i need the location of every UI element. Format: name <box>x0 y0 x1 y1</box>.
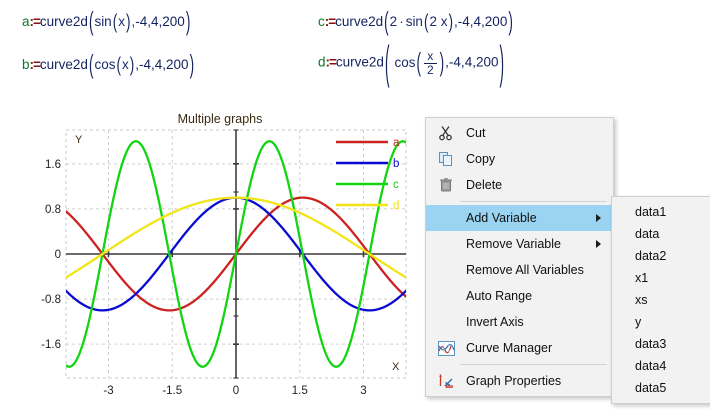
menu-item-label: Add Variable <box>460 211 537 225</box>
submenu-item-label: data2 <box>635 249 666 263</box>
paren-close-icon: ) <box>190 50 195 79</box>
submenu-item-label: data4 <box>635 359 666 373</box>
y-axis-label: Y <box>75 134 83 146</box>
expression-a-arg2: 4 <box>151 14 159 29</box>
context-menu[interactable]: CutCopyDeleteAdd VariableRemove Variable… <box>425 117 614 397</box>
fraction-denominator: 2 <box>424 63 437 77</box>
expression-c-arg1: -4 <box>458 14 470 29</box>
paren-close-icon: ) <box>500 37 505 88</box>
menu-item-label: Cut <box>460 126 485 140</box>
sin-label: sin <box>94 14 111 29</box>
menu-item-icon-placeholder <box>432 234 460 254</box>
submenu-item-data[interactable]: data <box>612 223 710 245</box>
menu-item-delete[interactable]: Delete <box>426 172 613 198</box>
expression-b-arg1: -4 <box>139 57 151 72</box>
menu-item-cut[interactable]: Cut <box>426 120 613 146</box>
submenu-item-label: y <box>635 315 641 329</box>
y-tick-label: -1.6 <box>41 339 61 351</box>
copy-icon <box>432 149 460 169</box>
submenu-arrow-icon <box>596 240 601 248</box>
menu-separator <box>460 201 607 202</box>
menu-item-remove-all-variables[interactable]: Remove All Variables <box>426 257 613 283</box>
fraction: x2 <box>424 50 437 76</box>
argument-label: 2 x <box>429 14 447 29</box>
submenu-item-label: xs <box>635 293 648 307</box>
menu-item-label: Copy <box>460 152 495 166</box>
menu-item-label: Remove Variable <box>460 237 561 251</box>
menu-item-graph-properties[interactable]: Graph Properties <box>426 368 613 394</box>
paren-open-icon: ( <box>89 7 94 36</box>
submenu-item-label: data3 <box>635 337 666 351</box>
expression-d[interactable]: d:=curve2d(cos(x2),-4,4,200) <box>318 50 505 76</box>
expression-c-function: curve2d <box>335 14 383 29</box>
legend-label-b: b <box>393 158 399 170</box>
expression-d-arg1: -4 <box>449 55 461 70</box>
paren-open-icon: ( <box>424 10 429 33</box>
trash-icon <box>432 175 460 195</box>
expression-a-argument: sin(x) <box>94 14 131 29</box>
x-tick-label: -3 <box>103 385 113 397</box>
menu-separator <box>460 364 607 365</box>
coefficient-label: 2 <box>390 14 398 29</box>
expression-b-assign: := <box>30 57 40 72</box>
sin-label: sin <box>406 14 423 29</box>
y-tick-label: 0 <box>55 249 61 261</box>
paren-open-icon: ( <box>385 37 390 88</box>
submenu-item-x1[interactable]: x1 <box>612 267 710 289</box>
menu-item-icon-placeholder <box>432 208 460 228</box>
paren-close-icon: ) <box>508 7 513 36</box>
expression-c-argument: 2·sin(2 x) <box>390 14 454 29</box>
menu-item-label: Delete <box>460 178 502 192</box>
expression-d-argument: cos(x2) <box>394 55 445 70</box>
submenu-item-label: x1 <box>635 271 648 285</box>
legend-label-a: a <box>393 137 400 149</box>
expression-a-arg1: -4 <box>135 14 147 29</box>
plot-region[interactable]: Multiple graphs -3-1.501.531.60.80-0.8-1… <box>24 112 416 406</box>
cos-label: cos <box>394 55 415 70</box>
menu-item-label: Auto Range <box>460 289 532 303</box>
multiply-icon: · <box>399 14 404 29</box>
submenu-item-y[interactable]: y <box>612 311 710 333</box>
menu-item-label: Graph Properties <box>460 374 561 388</box>
menu-item-icon-placeholder <box>432 286 460 306</box>
expression-d-arg3: 200 <box>476 55 499 70</box>
expression-b[interactable]: b:=curve2d(cos(x),-4,4,200) <box>22 57 195 72</box>
y-tick-label: -0.8 <box>41 294 61 306</box>
x-label: x <box>118 14 125 29</box>
submenu-item-label: data1 <box>635 205 666 219</box>
paren-open-icon: ( <box>116 53 121 76</box>
expression-b-variable: b <box>22 57 30 72</box>
menu-item-auto-range[interactable]: Auto Range <box>426 283 613 309</box>
paren-close-icon: ) <box>186 7 191 36</box>
expression-c-arg2: 4 <box>474 14 482 29</box>
expression-b-function: curve2d <box>40 57 88 72</box>
paren-open-icon: ( <box>416 48 421 77</box>
submenu-item-data3[interactable]: data3 <box>612 333 710 355</box>
legend-label-c: c <box>393 179 399 191</box>
expression-a-arg3: 200 <box>162 14 185 29</box>
y-tick-label: 1.6 <box>45 159 61 171</box>
chart-canvas[interactable]: -3-1.501.531.60.80-0.8-1.6YXabcd <box>24 112 416 406</box>
menu-item-invert-axis[interactable]: Invert Axis <box>426 309 613 335</box>
scissors-icon <box>432 123 460 143</box>
menu-item-remove-variable[interactable]: Remove Variable <box>426 231 613 257</box>
graph-properties-icon <box>432 371 460 391</box>
cos-label: cos <box>94 57 115 72</box>
expression-a-assign: := <box>30 14 40 29</box>
submenu-item-data2[interactable]: data2 <box>612 245 710 267</box>
menu-item-icon-placeholder <box>432 312 460 332</box>
expression-a-variable: a <box>22 14 30 29</box>
expression-a[interactable]: a:=curve2d(sin(x),-4,4,200) <box>22 14 191 29</box>
paren-open-icon: ( <box>89 50 94 79</box>
expression-b-argument: cos(x) <box>94 57 135 72</box>
expression-d-variable: d <box>318 55 326 70</box>
expression-d-function: curve2d <box>336 55 384 70</box>
menu-item-icon-placeholder <box>432 260 460 280</box>
menu-item-label: Remove All Variables <box>460 263 584 277</box>
menu-item-copy[interactable]: Copy <box>426 146 613 172</box>
expression-c[interactable]: c:=curve2d(2·sin(2 x),-4,4,200) <box>318 14 514 29</box>
legend-label-d: d <box>393 200 399 212</box>
menu-item-add-variable[interactable]: Add Variable <box>426 205 613 231</box>
expression-c-assign: := <box>325 14 335 29</box>
paren-close-icon: ) <box>448 10 453 33</box>
submenu-arrow-icon <box>596 214 601 222</box>
add-variable-submenu[interactable]: data1datadata2x1xsydata3data4data5 <box>611 196 710 404</box>
expression-d-assign: := <box>326 55 336 70</box>
expression-a-function: curve2d <box>40 14 88 29</box>
x-tick-label: 0 <box>233 385 239 397</box>
menu-item-label: Invert Axis <box>460 315 524 329</box>
x-label: x <box>122 57 129 72</box>
paren-open-icon: ( <box>113 10 118 33</box>
x-tick-label: 1.5 <box>292 385 308 397</box>
x-axis-label: X <box>392 361 400 373</box>
submenu-item-label: data5 <box>635 381 666 395</box>
submenu-item-data5[interactable]: data5 <box>612 377 710 399</box>
x-tick-label: 3 <box>360 385 366 397</box>
paren-close-icon: ) <box>126 10 131 33</box>
submenu-item-data4[interactable]: data4 <box>612 355 710 377</box>
menu-item-curve-manager[interactable]: Curve Manager <box>426 335 613 361</box>
y-tick-label: 0.8 <box>45 204 61 216</box>
paren-close-icon: ) <box>440 48 445 77</box>
fraction-numerator: x <box>424 50 436 63</box>
submenu-item-xs[interactable]: xs <box>612 289 710 311</box>
submenu-item-label: data <box>635 227 659 241</box>
paren-close-icon: ) <box>130 53 135 76</box>
x-tick-label: -1.5 <box>162 385 182 397</box>
expression-c-variable: c <box>318 14 325 29</box>
curve-manager-icon <box>432 338 460 358</box>
submenu-item-data1[interactable]: data1 <box>612 201 710 223</box>
expression-b-arg3: 200 <box>166 57 189 72</box>
paren-open-icon: ( <box>384 7 389 36</box>
expression-c-arg3: 200 <box>485 14 508 29</box>
menu-item-label: Curve Manager <box>460 341 552 355</box>
